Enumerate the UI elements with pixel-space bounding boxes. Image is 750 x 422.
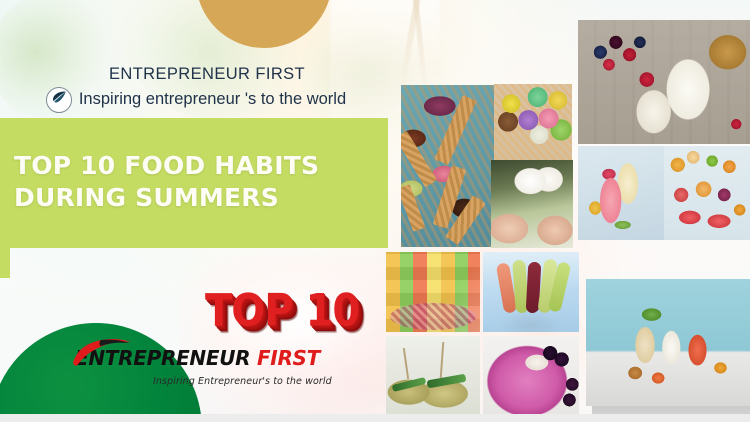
headline-band-tail xyxy=(0,248,10,278)
header-tagline-row: Inspiring entrepreneur 's to the world xyxy=(46,87,346,113)
header-brand-title: ENTREPRENEUR FIRST xyxy=(109,66,305,83)
top10-graphic-text: TOP 10 xyxy=(205,285,359,337)
top10-graphic: TOP 10 xyxy=(205,285,359,337)
footer-logo[interactable]: ENTREPRENEUR FIRST Inspiring Entrepreneu… xyxy=(75,348,365,406)
footer-logo-main: ENTREPRENEUR xyxy=(75,346,257,370)
collage-tile-fruit-popsicles[interactable] xyxy=(483,252,579,332)
collage-tile-kids-ice-cream[interactable] xyxy=(491,160,573,248)
footer-logo-accent: FIRST xyxy=(257,346,320,370)
page-title: TOP 10 FOOD HABITS DURING SUMMERS xyxy=(14,150,382,214)
leaf-circle-icon xyxy=(46,87,72,113)
collage-tile-yogurt-berries[interactable] xyxy=(578,20,750,144)
collage-tile-ice-cream-cones[interactable] xyxy=(401,85,503,247)
collage-tile-fruit-cubes[interactable] xyxy=(386,252,480,332)
collage-tile-berry-smoothie[interactable] xyxy=(483,336,579,414)
footer-logo-wordmark: ENTREPRENEUR FIRST xyxy=(75,348,365,368)
header-tagline: Inspiring entrepreneur 's to the world xyxy=(79,91,346,108)
collage-tile-fresh-fruit-spread[interactable] xyxy=(664,146,750,240)
footer-logo-tagline: Inspiring Entrepreneur's to the world xyxy=(153,376,365,387)
collage-tile-summer-drinks[interactable] xyxy=(586,279,750,406)
header-block: ENTREPRENEUR FIRST Inspiring entrepreneu… xyxy=(0,61,392,118)
bottom-strip xyxy=(0,414,750,422)
collage-tile-summer-mocktail[interactable] xyxy=(578,146,664,240)
collage-tile-cucumber-dip[interactable] xyxy=(386,336,480,414)
collage-tile-ice-cream-scoops[interactable] xyxy=(494,84,572,166)
poster-canvas: ENTREPRENEUR FIRST Inspiring entrepreneu… xyxy=(0,0,750,422)
